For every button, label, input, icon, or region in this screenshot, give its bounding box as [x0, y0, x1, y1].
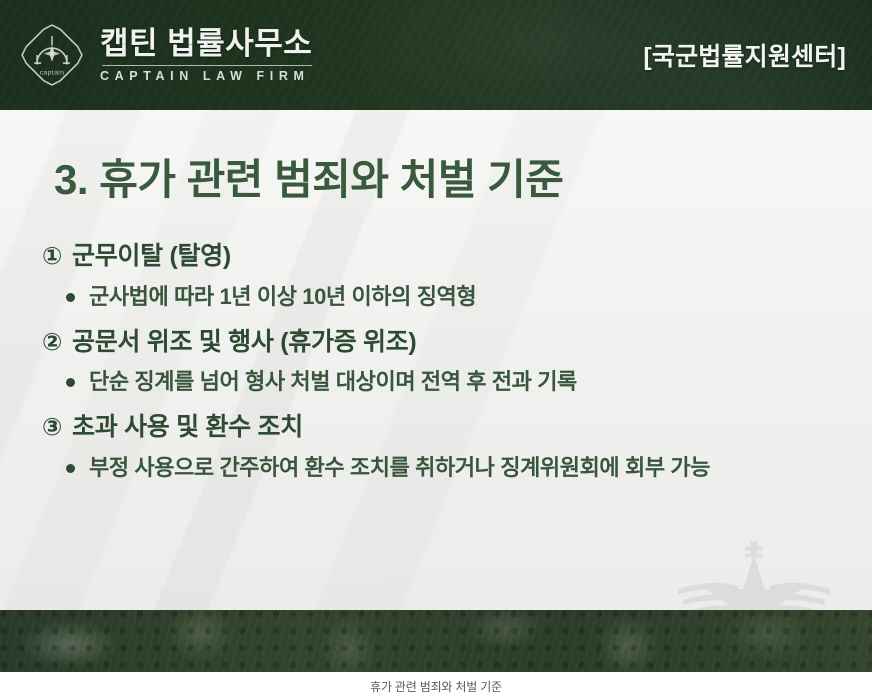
svg-text:captain: captain	[40, 70, 65, 77]
point-number: ③	[42, 412, 62, 443]
point-heading: 초과 사용 및 환수 조치	[72, 411, 303, 444]
point-heading-row: ③ 초과 사용 및 환수 조치	[42, 411, 836, 444]
point-item: ③ 초과 사용 및 환수 조치 부정 사용으로 간주하여 환수 조치를 취하거나…	[42, 411, 836, 482]
slide-body: 3. 휴가 관련 범죄와 처벌 기준 ① 군무이탈 (탈영) 군사법에 따라 1…	[0, 110, 872, 610]
point-item: ② 공문서 위조 및 행사 (휴가증 위조) 단순 징계를 넘어 형사 처벌 대…	[42, 326, 836, 397]
brand-name-korean: 캡틴 법률사무소	[100, 27, 312, 61]
bullet-dot-icon	[66, 293, 75, 302]
point-heading: 군무이탈 (탈영)	[72, 240, 231, 273]
page-title: 3. 휴가 관련 범죄와 처벌 기준	[36, 110, 836, 204]
point-number: ②	[42, 327, 62, 358]
point-detail-row: 부정 사용으로 간주하여 환수 조치를 취하거나 징계위원회에 회부 가능	[66, 453, 836, 482]
footer-texture-strip	[0, 610, 872, 672]
point-detail-text: 단순 징계를 넘어 형사 처벌 대상이며 전역 후 전과 기록	[89, 367, 577, 396]
image-caption: 휴가 관련 범죄와 처벌 기준	[0, 672, 872, 700]
point-detail-row: 단순 징계를 넘어 형사 처벌 대상이며 전역 후 전과 기록	[66, 367, 836, 396]
point-number: ①	[42, 241, 62, 272]
point-detail-row: 군사법에 따라 1년 이상 10년 이하의 징역형	[66, 282, 836, 311]
bullet-dot-icon	[66, 378, 75, 387]
bullet-dot-icon	[66, 464, 75, 473]
captain-diamond-emblem-icon: captain	[18, 21, 86, 89]
point-item: ① 군무이탈 (탈영) 군사법에 따라 1년 이상 10년 이하의 징역형	[42, 240, 836, 311]
points-list: ① 군무이탈 (탈영) 군사법에 따라 1년 이상 10년 이하의 징역형 ② …	[36, 204, 836, 482]
brand-lockup: captain 캡틴 법률사무소 CAPTAIN LAW FIRM	[18, 21, 312, 89]
military-star-wings-emblem-icon	[664, 538, 844, 610]
point-detail-text: 군사법에 따라 1년 이상 10년 이하의 징역형	[89, 282, 476, 311]
slide-container: captain 캡틴 법률사무소 CAPTAIN LAW FIRM [국군법률지…	[0, 0, 872, 672]
brand-divider	[102, 65, 312, 66]
slide-header: captain 캡틴 법률사무소 CAPTAIN LAW FIRM [국군법률지…	[0, 0, 872, 110]
point-heading-row: ① 군무이탈 (탈영)	[42, 240, 836, 273]
point-detail-text: 부정 사용으로 간주하여 환수 조치를 취하거나 징계위원회에 회부 가능	[89, 453, 710, 482]
point-heading-row: ② 공문서 위조 및 행사 (휴가증 위조)	[42, 326, 836, 359]
point-heading: 공문서 위조 및 행사 (휴가증 위조)	[72, 326, 416, 359]
header-center-badge: [국군법률지원센터]	[643, 37, 846, 73]
brand-name-english: CAPTAIN LAW FIRM	[100, 70, 312, 83]
